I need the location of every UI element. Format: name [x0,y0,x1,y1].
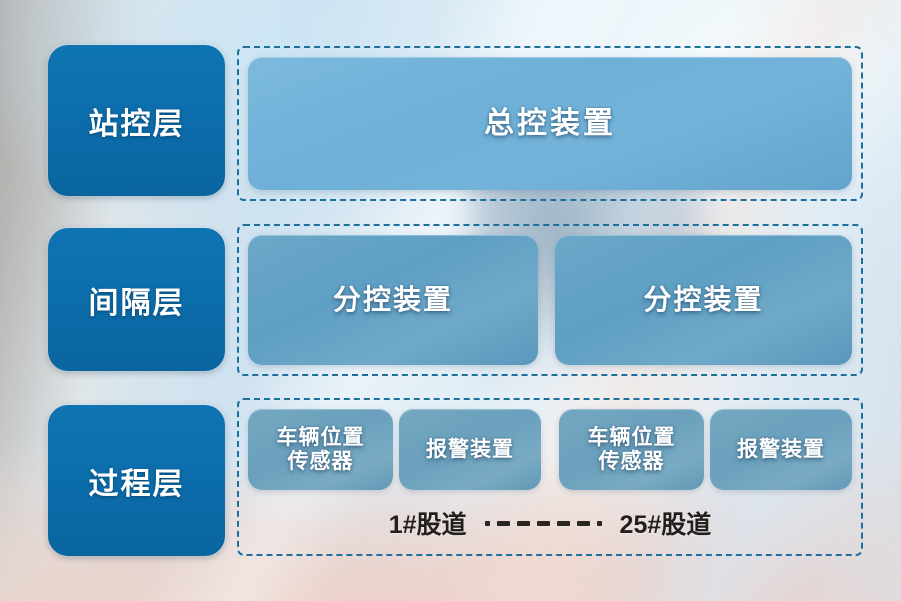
dashed-zone-bay-level: 分控装置 分控装置 [237,224,863,376]
device-card-label: 车辆位置 传感器 [277,426,365,473]
device-card-label: 车辆位置 传感器 [588,426,676,473]
device-card-label: 报警装置 [737,438,825,462]
device-card-alarm-device-2[interactable]: 报警装置 [710,409,852,490]
device-card-label: 总控装置 [484,107,616,141]
track-caption-row: 1#股道 25#股道 [248,496,852,550]
track-ellipsis-icon [481,521,606,526]
device-card-vehicle-position-sensor-2[interactable]: 车辆位置 传感器 [559,409,704,490]
track-label-last: 25#股道 [620,505,712,541]
track-label-first: 1#股道 [389,505,467,541]
device-card-master-control[interactable]: 总控装置 [248,57,852,190]
device-card-label: 报警装置 [426,438,514,462]
layer-chip-bay-level[interactable]: 间隔层 [48,228,225,371]
device-card-sub-control-1[interactable]: 分控装置 [248,235,538,365]
diagram-canvas: 站控层 总控装置 间隔层 分控装置 分控装置 过程层 车 [0,0,901,601]
layer-chip-label: 过程层 [89,459,185,503]
device-card-label: 分控装置 [333,284,453,315]
layer-chip-station-control[interactable]: 站控层 [48,45,225,196]
device-card-label: 分控装置 [643,284,763,315]
layer-chip-process-level[interactable]: 过程层 [48,405,225,556]
dashed-zone-process-level: 车辆位置 传感器 报警装置 车辆位置 传感器 报警装置 1#股道 25#股道 [237,398,863,556]
dashed-zone-station-control: 总控装置 [237,46,863,201]
device-card-vehicle-position-sensor-1[interactable]: 车辆位置 传感器 [248,409,393,490]
device-card-sub-control-2[interactable]: 分控装置 [555,235,852,365]
layer-chip-label: 站控层 [89,99,185,143]
device-card-alarm-device-1[interactable]: 报警装置 [399,409,541,490]
layer-chip-label: 间隔层 [89,278,185,322]
